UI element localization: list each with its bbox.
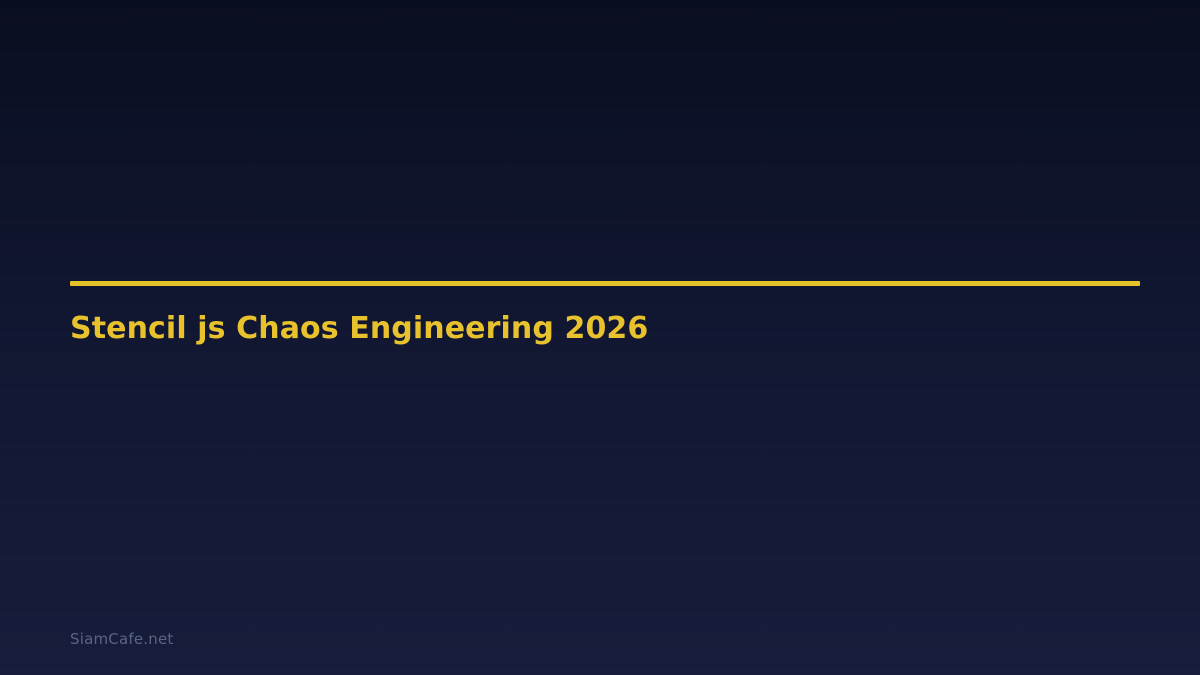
slide-canvas: Stencil js Chaos Engineering 2026 SiamCa…: [0, 0, 1200, 675]
watermark-label: SiamCafe.net: [70, 629, 173, 650]
page-title: Stencil js Chaos Engineering 2026: [70, 286, 1140, 347]
slide-content: Stencil js Chaos Engineering 2026: [70, 281, 1140, 347]
